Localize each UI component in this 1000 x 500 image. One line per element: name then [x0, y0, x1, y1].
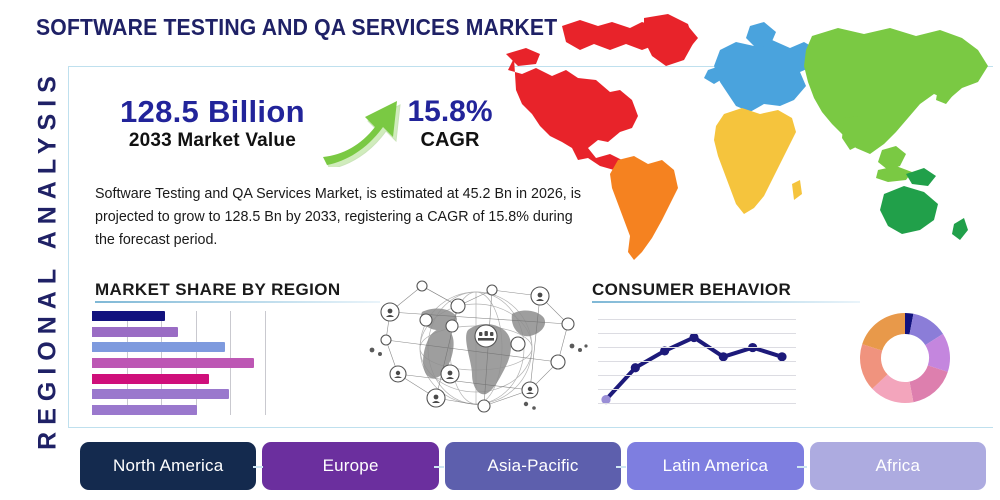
- map-region-new-zealand: [952, 218, 968, 240]
- market-value-block: 128.5 Billion 2033 Market Value: [120, 95, 305, 152]
- map-region-southeast-asia: [878, 146, 906, 170]
- line-gridline: [598, 403, 796, 404]
- map-region-europe: [714, 40, 818, 112]
- bar-chart-row: [92, 311, 282, 321]
- map-region-south-america: [610, 156, 678, 260]
- map-region-madagascar: [792, 180, 802, 200]
- global-network-globe-icon: [362, 278, 590, 424]
- consumer-behavior-line-chart: [598, 309, 796, 413]
- region-button-asia-pacific[interactable]: Asia-Pacific: [445, 442, 621, 490]
- summary-paragraph: Software Testing and QA Services Market,…: [95, 183, 590, 252]
- bar-chart-row: [92, 405, 282, 415]
- hero-metrics: 128.5 Billion 2033 Market Value 15.8% CA…: [95, 95, 515, 170]
- market-value-caption: 2033 Market Value: [120, 130, 305, 152]
- bar-chart-row: [92, 358, 282, 368]
- bar: [92, 389, 229, 399]
- line-gridline: [598, 347, 796, 348]
- growth-arrow-icon: [317, 87, 407, 167]
- section-heading-consumer-behavior: CONSUMER BEHAVIOR: [592, 280, 791, 300]
- line-gridline: [598, 389, 796, 390]
- market-share-bar-chart: [92, 311, 282, 415]
- region-connector: [253, 466, 263, 468]
- line-gridline: [598, 333, 796, 334]
- section-rule-market-share: [95, 301, 380, 303]
- region-button-europe[interactable]: Europe: [262, 442, 438, 490]
- map-region-asia: [804, 28, 988, 154]
- map-region-greenland: [644, 14, 694, 66]
- cagr-value: 15.8%: [395, 95, 505, 129]
- bar-chart-rows: [92, 311, 282, 415]
- bar: [92, 311, 165, 321]
- cagr-caption: CAGR: [395, 129, 505, 152]
- bar: [92, 342, 225, 352]
- map-region-north-america: [508, 58, 638, 170]
- region-button-latin-america[interactable]: Latin America: [627, 442, 803, 490]
- map-region-australia: [880, 186, 938, 234]
- map-region-alaska: [506, 48, 540, 66]
- map-region-new-guinea: [906, 168, 936, 186]
- region-button-north-america[interactable]: North America: [80, 442, 256, 490]
- bar-chart-row: [92, 327, 282, 337]
- side-label-regional-analysis: REGIONAL ANALYSIS: [34, 60, 63, 460]
- region-connector: [434, 466, 444, 468]
- page-title: SOFTWARE TESTING AND QA SERVICES MARKET: [36, 14, 557, 41]
- bar: [92, 405, 197, 415]
- segment-donut-chart: [858, 311, 952, 405]
- line-gridline: [598, 375, 796, 376]
- donut-segment: [909, 365, 947, 402]
- bar: [92, 374, 209, 384]
- market-value: 128.5 Billion: [120, 95, 305, 130]
- bar-chart-row: [92, 389, 282, 399]
- line-gridline: [598, 319, 796, 320]
- cagr-block: 15.8% CAGR: [395, 95, 505, 152]
- infographic-root: SOFTWARE TESTING AND QA SERVICES MARKET …: [0, 0, 1000, 500]
- section-rule-consumer-behavior: [592, 301, 860, 303]
- bar: [92, 327, 178, 337]
- region-connector: [616, 466, 626, 468]
- bar: [92, 358, 254, 368]
- region-connector: [797, 466, 807, 468]
- region-button-africa[interactable]: Africa: [810, 442, 986, 490]
- line-chart-gridlines: [598, 309, 796, 413]
- line-gridline: [598, 361, 796, 362]
- bar-chart-row: [92, 342, 282, 352]
- bar-chart-row: [92, 374, 282, 384]
- donut-segment: [862, 313, 905, 351]
- region-button-row: North AmericaEuropeAsia-PacificLatin Ame…: [80, 442, 986, 490]
- section-heading-market-share: MARKET SHARE BY REGION: [95, 280, 341, 300]
- map-region-africa: [714, 108, 796, 214]
